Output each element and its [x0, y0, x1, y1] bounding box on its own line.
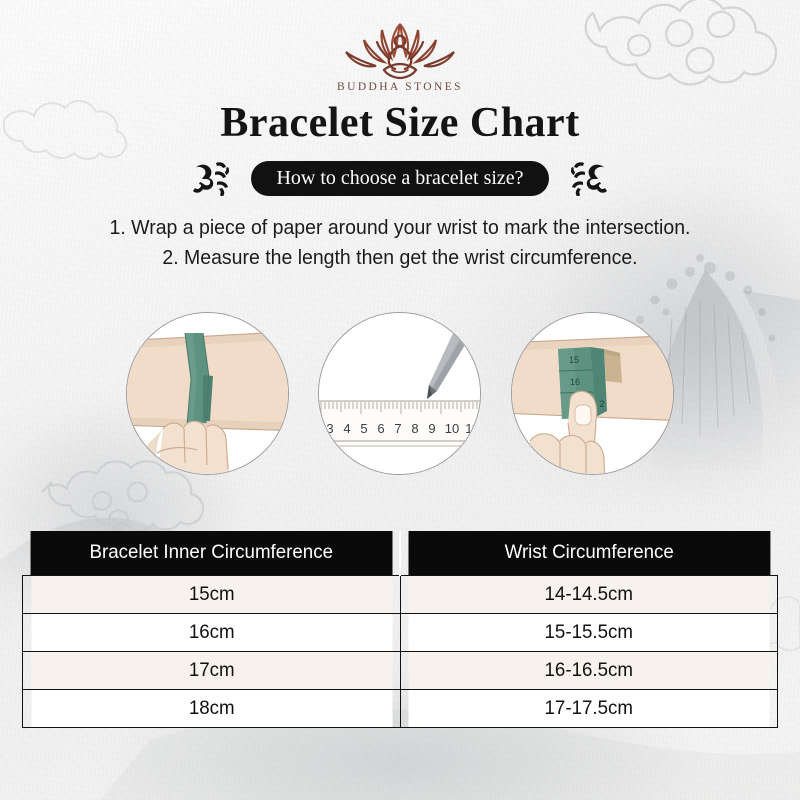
cell-wrist: 14-14.5cm [408, 575, 770, 613]
banner-row: How to choose a bracelet size? [0, 160, 800, 196]
cell-bracelet-inner: 17cm [30, 651, 392, 689]
brand-name: BUDDHA STONES [0, 81, 800, 93]
column-header-wrist-circumference: Wrist Circumference [408, 531, 770, 575]
size-table: Bracelet Inner Circumference Wrist Circu… [22, 531, 778, 728]
table-header-row: Bracelet Inner Circumference Wrist Circu… [23, 531, 778, 575]
cell-wrist: 15-15.5cm [408, 613, 770, 651]
table-row: 16cm 15-15.5cm [23, 613, 778, 651]
svg-text:3: 3 [326, 421, 333, 436]
svg-text:7: 7 [394, 421, 401, 436]
ruler-and-pencil-icon: 34 56 78 910 11 [319, 313, 481, 475]
instruction-list: 1. Wrap a piece of paper around your wri… [0, 213, 800, 272]
svg-text:4: 4 [343, 421, 350, 436]
svg-text:16: 16 [570, 377, 580, 387]
svg-text:11: 11 [465, 421, 479, 436]
brand-logo: BUDDHA STONES [0, 18, 800, 93]
wrist-with-tape-measure-icon: 15 16 17 2 [512, 313, 674, 475]
svg-text:9: 9 [428, 421, 435, 436]
svg-text:10: 10 [445, 421, 459, 436]
page-title: Bracelet Size Chart [0, 99, 800, 147]
column-header-bracelet-inner-circumference: Bracelet Inner Circumference [30, 531, 392, 575]
cell-bracelet-inner: 18cm [30, 689, 392, 727]
instruction-step-1: 1. Wrap a piece of paper around your wri… [20, 213, 780, 243]
wrist-with-paper-strip-icon [127, 313, 289, 475]
cell-bracelet-inner: 16cm [30, 613, 392, 651]
cloud-swirl-ornament-icon [192, 160, 238, 196]
illustration-wrap-paper-around-wrist [126, 312, 289, 475]
table-row: 15cm 14-14.5cm [23, 575, 778, 613]
svg-text:2: 2 [599, 399, 604, 409]
lotus-meditation-icon [334, 18, 466, 80]
cloud-swirl-ornament-icon [562, 160, 608, 196]
cell-wrist: 17-17.5cm [408, 689, 770, 727]
cell-bracelet-inner: 15cm [30, 575, 392, 613]
illustration-measure-with-ruler: 34 56 78 910 11 [318, 312, 481, 475]
bracelet-size-chart-page: BUDDHA STONES Bracelet Size Chart How to… [0, 0, 800, 800]
svg-text:15: 15 [569, 355, 579, 365]
svg-text:5: 5 [360, 421, 367, 436]
table-row: 18cm 17-17.5cm [23, 689, 778, 727]
table-row: 17cm 16-16.5cm [23, 651, 778, 689]
instruction-step-2: 2. Measure the length then get the wrist… [20, 243, 780, 273]
cell-wrist: 16-16.5cm [408, 651, 770, 689]
cloud-motif-left [42, 461, 203, 530]
svg-text:8: 8 [411, 421, 418, 436]
how-to-banner: How to choose a bracelet size? [251, 161, 548, 196]
illustration-read-tape-measure: 15 16 17 2 [511, 312, 674, 475]
svg-text:6: 6 [377, 421, 384, 436]
